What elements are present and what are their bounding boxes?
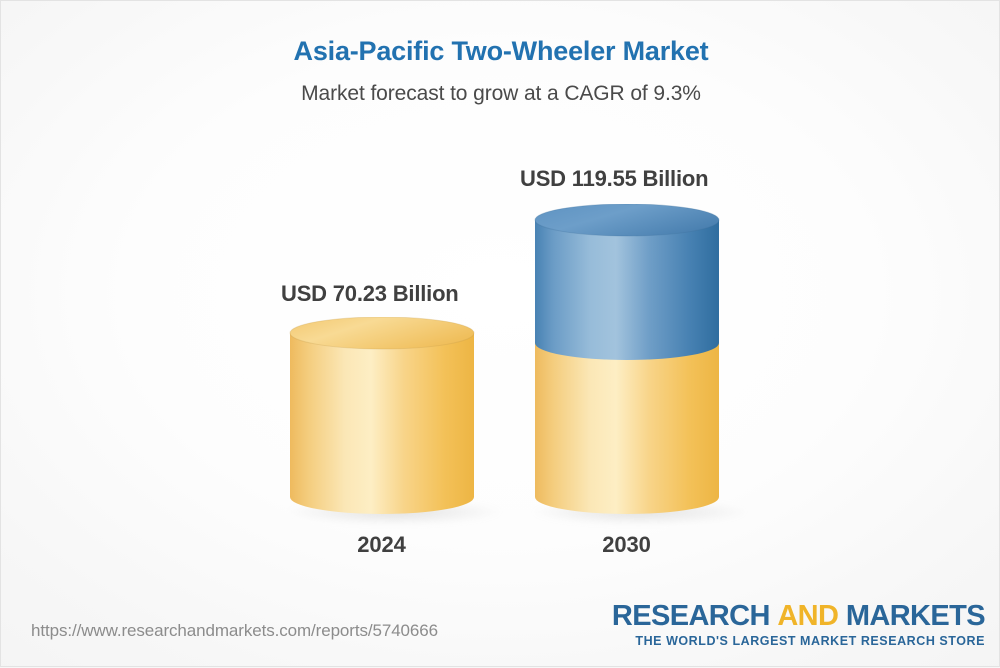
logo-word-research: RESEARCH (612, 600, 770, 632)
logo-word-and: AND (777, 600, 838, 632)
brand-logo[interactable]: RESEARCH AND MARKETS THE WORLD'S LARGEST… (612, 601, 985, 648)
logo-tagline: THE WORLD'S LARGEST MARKET RESEARCH STOR… (612, 634, 985, 648)
infographic-canvas: Asia-Pacific Two-Wheeler Market Market f… (0, 0, 1000, 667)
logo-word-markets: MARKETS (846, 600, 985, 632)
category-label-2030: 2030 (534, 532, 719, 558)
bar-cylinder-2030 (534, 204, 720, 519)
category-label-2024: 2024 (289, 532, 474, 558)
value-label-2030: USD 119.55 Billion (520, 166, 708, 192)
footer-url-text: https://www.researchandmarkets.com/repor… (31, 621, 438, 640)
chart-plot-area: USD 70.23 Billion USD 119.55 Billion (1, 1, 1000, 668)
logo-wordmark: RESEARCH AND MARKETS (612, 601, 985, 631)
footer-url[interactable]: https://www.researchandmarkets.com/repor… (31, 621, 438, 641)
bar-cylinder-2024 (289, 317, 475, 519)
value-label-2024: USD 70.23 Billion (281, 281, 459, 307)
